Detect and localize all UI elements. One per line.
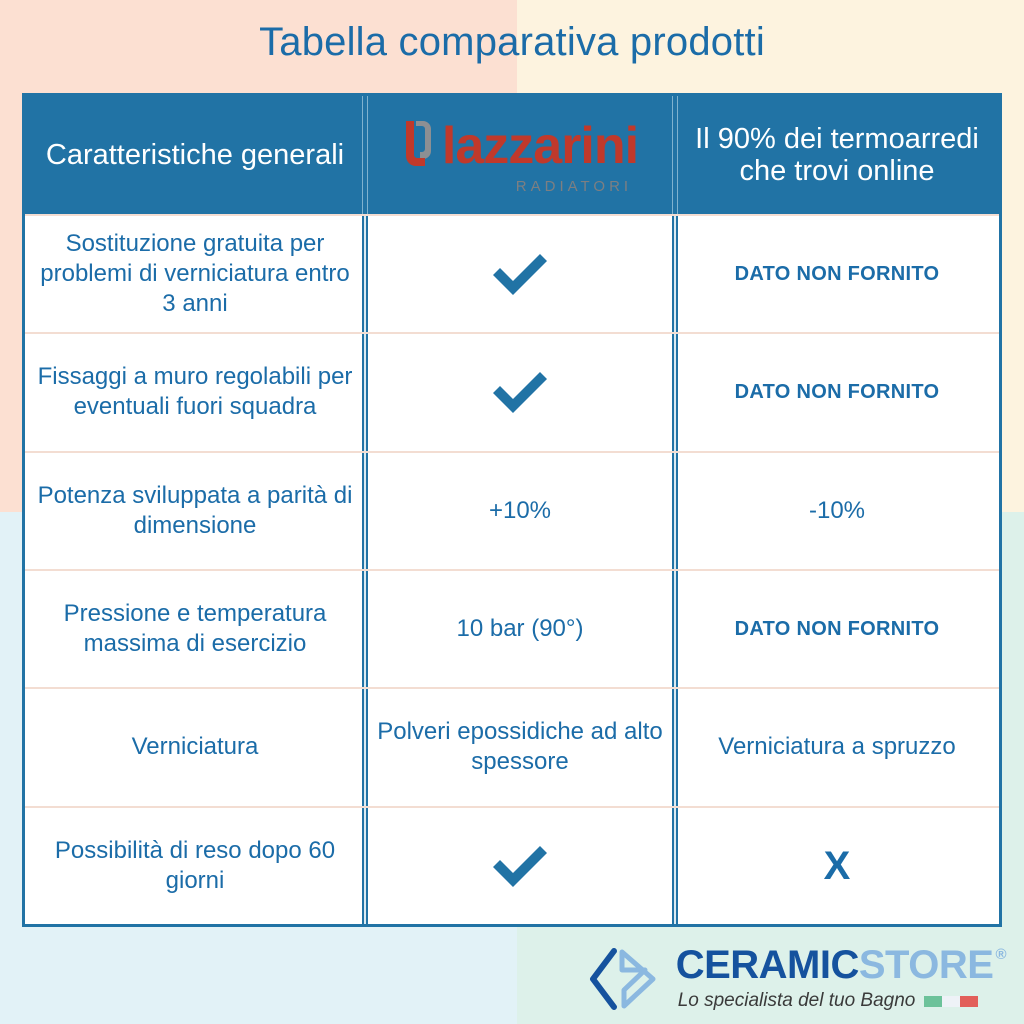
table-row: Verniciatura Polveri epossidiche ad alto… [25, 687, 999, 805]
table-row: Fissaggi a muro regolabili per eventuali… [25, 332, 999, 450]
brand-value-cell [365, 808, 675, 924]
header-cell-competitors: Il 90% dei termoarredi che trovi online [675, 96, 999, 214]
registered-mark-icon: ® [995, 947, 1006, 962]
brand-value-cell: 10 bar (90°) [365, 571, 675, 687]
brand-value-cell: +10% [365, 453, 675, 569]
wordmark-store: STORE [859, 945, 994, 985]
ceramicstore-logo: CERAMIC STORE ® Lo specialista del tuo B… [588, 945, 1006, 1012]
header-cell-features: Caratteristiche generali [25, 96, 365, 214]
check-icon [489, 250, 551, 298]
brand-value-cell: Polveri epossidiche ad alto spessore [365, 689, 675, 805]
brand-value-cell [365, 216, 675, 332]
ceramicstore-wordmark: CERAMIC STORE ® [676, 945, 1006, 985]
lazzarini-radiator-icon [402, 117, 436, 177]
page-title: Tabella comparativa prodotti [0, 20, 1024, 65]
feature-cell: Verniciatura [25, 689, 365, 805]
competitor-value-cell: DATO NON FORNITO [675, 571, 999, 687]
feature-cell: Possibilità di reso dopo 60 giorni [25, 808, 365, 924]
header-cell-brand: lazzarini RADIATORI [365, 96, 675, 214]
flag-stripe-white [942, 996, 960, 1007]
competitor-value-cell: DATO NON FORNITO [675, 216, 999, 332]
competitor-value-cell: DATO NON FORNITO [675, 334, 999, 450]
table-row: Sostituzione gratuita per problemi di ve… [25, 214, 999, 332]
feature-cell: Fissaggi a muro regolabili per eventuali… [25, 334, 365, 450]
table-row: Pressione e temperatura massima di eserc… [25, 569, 999, 687]
table-header-row: Caratteristiche generali lazzarini RADIA… [25, 96, 999, 214]
check-icon [489, 368, 551, 416]
lazzarini-wordmark: lazzarini [442, 123, 638, 170]
feature-cell: Potenza sviluppata a parità di dimension… [25, 453, 365, 569]
feature-cell: Sostituzione gratuita per problemi di ve… [25, 216, 365, 332]
table-row: Possibilità di reso dopo 60 giorni X [25, 806, 999, 924]
feature-cell: Pressione e temperatura massima di eserc… [25, 571, 365, 687]
ceramicstore-mark-icon [588, 946, 662, 1012]
footer-tagline: Lo specialista del tuo Bagno [678, 990, 916, 1012]
cross-icon: X [675, 808, 999, 924]
flag-stripe-green [924, 996, 942, 1007]
lazzarini-logo: lazzarini RADIATORI [402, 117, 638, 194]
italian-flag-icon [924, 996, 978, 1007]
wordmark-ceramic: CERAMIC [676, 945, 859, 985]
flag-stripe-red [960, 996, 978, 1007]
comparison-table: Caratteristiche generali lazzarini RADIA… [22, 93, 1002, 927]
lazzarini-subtitle: RADIATORI [516, 179, 632, 194]
competitor-value-cell: -10% [675, 453, 999, 569]
competitor-value-cell: Verniciatura a spruzzo [675, 689, 999, 805]
table-row: Potenza sviluppata a parità di dimension… [25, 451, 999, 569]
brand-value-cell [365, 334, 675, 450]
check-icon [489, 842, 551, 890]
